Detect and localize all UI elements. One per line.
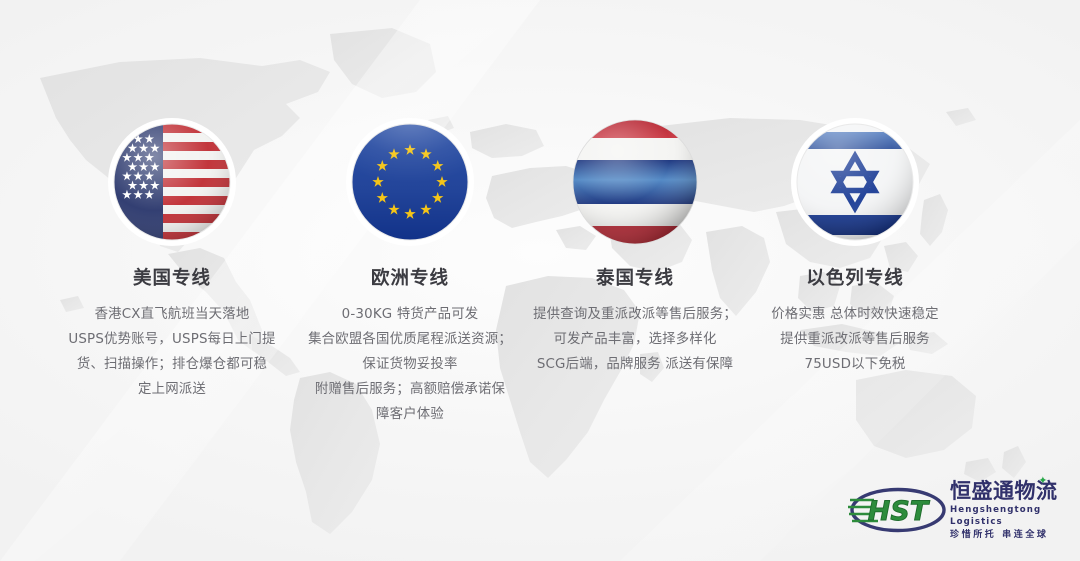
service-card-israel[interactable]: 以色列专线 价格实惠 总体时效快速稳定 提供重派改派等售后服务 75USD以下免… (720, 116, 990, 377)
desc-line: 香港CX直飞航班当天落地 (38, 302, 306, 327)
service-description: 价格实惠 总体时效快速稳定 提供重派改派等售后服务 75USD以下免税 (721, 302, 989, 377)
hst-logo-icon: HST (848, 484, 946, 536)
desc-line: 提供重派改派等售后服务 (721, 327, 989, 352)
service-title: 美国专线 (133, 268, 211, 290)
service-columns: 美国专线 香港CX直飞航班当天落地 USPS优势账号，USPS每日上门提 货、扫… (0, 0, 1080, 561)
sparkle-icon: ✦ (1038, 475, 1048, 486)
service-title: 泰国专线 (596, 268, 674, 290)
logo-company-cn: 恒盛通物流 ✦ (950, 480, 1070, 503)
logo-slogan: 珍惜所托 串连全球 (950, 529, 1070, 541)
eu-flag-badge (344, 116, 476, 248)
israel-flag-badge (789, 116, 921, 248)
desc-line: 附赠售后服务；高额赔偿承诺保 (276, 377, 544, 402)
desc-line: 货、扫描操作；排仓爆仓都可稳 (38, 352, 306, 377)
hst-logo-text: HST (868, 496, 931, 527)
service-title: 欧洲专线 (371, 268, 449, 290)
desc-line: USPS优势账号，USPS每日上门提 (38, 327, 306, 352)
desc-line: 价格实惠 总体时效快速稳定 (721, 302, 989, 327)
logo-text-block: 恒盛通物流 ✦ Hengshengtong Logistics 珍惜所托 串连全… (950, 480, 1070, 541)
desc-line: 定上网派送 (38, 377, 306, 402)
service-description: 香港CX直飞航班当天落地 USPS优势账号，USPS每日上门提 货、扫描操作；排… (38, 302, 306, 402)
desc-line: 障客户体验 (276, 402, 544, 427)
company-logo[interactable]: HST 恒盛通物流 ✦ Hengshengtong Logistics 珍惜所托… (848, 480, 1070, 540)
us-flag-badge (106, 116, 238, 248)
logo-company-en: Hengshengtong Logistics (950, 504, 1070, 528)
desc-line: 75USD以下免税 (721, 352, 989, 377)
service-title: 以色列专线 (806, 268, 904, 290)
thailand-flag-badge (569, 116, 701, 248)
service-card-usa[interactable]: 美国专线 香港CX直飞航班当天落地 USPS优势账号，USPS每日上门提 货、扫… (37, 116, 307, 402)
